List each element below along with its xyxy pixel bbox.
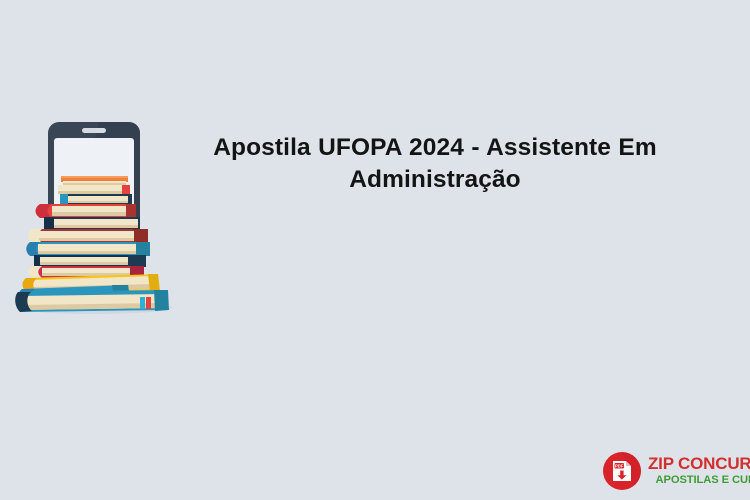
book-navy-2 bbox=[34, 255, 146, 267]
brand-primary-text: ZIP CONCURSOS bbox=[648, 455, 750, 472]
zip-concursos-logo[interactable]: PDF ZIP CONCURSOS APOSTILAS E CURSOS bbox=[602, 449, 744, 493]
product-banner: Apostila UFOPA 2024 - Assistente Em Admi… bbox=[0, 0, 750, 500]
book-base-bottom bbox=[15, 290, 169, 312]
book-cream-1 bbox=[58, 185, 130, 194]
book-orange-top bbox=[61, 176, 128, 185]
book-red-1 bbox=[36, 204, 137, 218]
pdf-download-icon: PDF bbox=[602, 451, 642, 491]
book-teal-1 bbox=[60, 194, 132, 205]
stack-of-books-with-tablet-illustration bbox=[8, 112, 180, 320]
brand-wordmark: ZIP CONCURSOS APOSTILAS E CURSOS bbox=[648, 455, 750, 487]
book-navy-1 bbox=[44, 217, 140, 230]
book-teal-2 bbox=[26, 242, 150, 256]
svg-text:PDF: PDF bbox=[615, 463, 624, 468]
brand-secondary-text: APOSTILAS E CURSOS bbox=[656, 475, 750, 486]
book-darkred-1 bbox=[28, 229, 148, 243]
title-block: Apostila UFOPA 2024 - Assistente Em Admi… bbox=[205, 132, 665, 196]
page-title: Apostila UFOPA 2024 - Assistente Em Admi… bbox=[205, 132, 665, 196]
